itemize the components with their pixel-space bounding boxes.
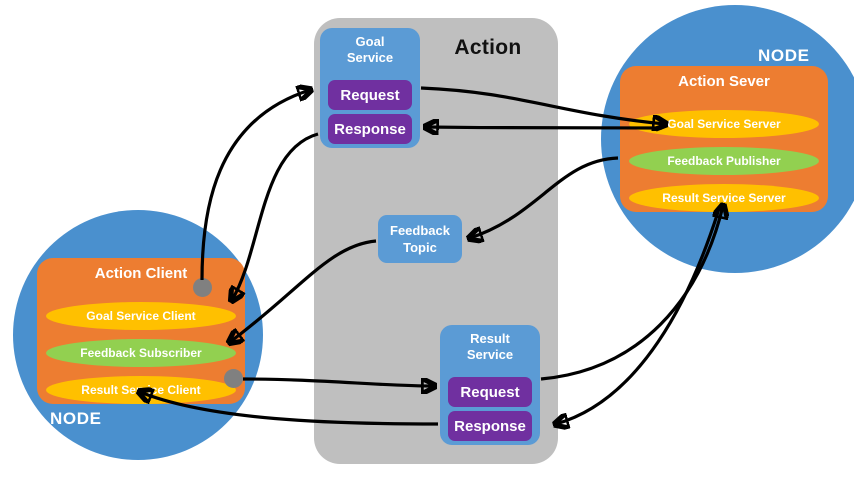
result-service-box: Result Service Request Response [440, 325, 540, 445]
feedback-topic-title-line1: Feedback [390, 222, 450, 239]
result-service-response-box: Response [448, 411, 532, 441]
node-right-label: NODE [758, 46, 810, 66]
goal-service-title-line1: Goal [320, 34, 420, 50]
result-service-request-box: Request [448, 377, 532, 407]
feedback-publisher-interface: Feedback Publisher [629, 147, 819, 175]
result-service-server-interface: Result Service Server [629, 184, 819, 212]
action-server-title: Action Sever [620, 73, 828, 90]
goal-service-client-interface: Goal Service Client [46, 302, 236, 330]
goal-service-title: Goal Service [320, 34, 420, 66]
goal-service-box: Goal Service Request Response [320, 28, 420, 148]
goal-service-server-interface: Goal Service Server [629, 110, 819, 138]
action-server-box: Action Sever Goal Service Server Feedbac… [620, 66, 828, 212]
goal-service-client-connector-dot [193, 278, 212, 297]
result-service-title-line1: Result [440, 331, 540, 347]
action-client-title: Action Client [37, 265, 245, 282]
result-service-client-connector-dot [224, 369, 243, 388]
result-service-client-interface: Result Service Client [46, 376, 236, 404]
result-service-title-line2: Service [440, 347, 540, 363]
goal-service-title-line2: Service [320, 50, 420, 66]
result-service-title: Result Service [440, 331, 540, 363]
action-container-label: Action [430, 36, 546, 60]
feedback-topic-title-line2: Topic [403, 239, 437, 256]
goal-service-request-box: Request [328, 80, 412, 110]
feedback-subscriber-interface: Feedback Subscriber [46, 339, 236, 367]
action-client-box: Action Client Goal Service Client Feedba… [37, 258, 245, 404]
diagram-canvas: Action NODE Action Sever Goal Service Se… [0, 0, 854, 480]
node-left-label: NODE [50, 409, 102, 429]
feedback-topic-box: Feedback Topic [378, 215, 462, 263]
goal-service-response-box: Response [328, 114, 412, 144]
